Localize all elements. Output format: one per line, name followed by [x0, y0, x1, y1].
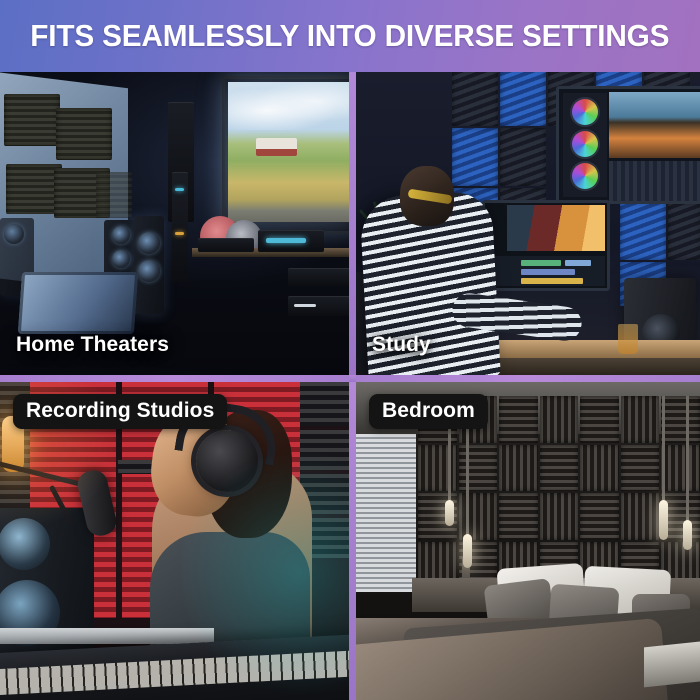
- foam-wedge-icon: [452, 72, 498, 126]
- foam-wedge-icon: [500, 128, 546, 186]
- divider-horizontal-left: [0, 375, 349, 382]
- timeline-clip: [521, 278, 583, 284]
- timeline-secondary: [487, 256, 605, 286]
- wedge-tile: [621, 493, 660, 540]
- timeline-clip: [521, 260, 561, 266]
- pendant-light: [659, 500, 668, 540]
- panel-bedroom[interactable]: Bedroom: [356, 382, 700, 700]
- speaker-cone-icon: [138, 232, 160, 254]
- lounge-chair-back: [18, 272, 138, 334]
- speaker-cone-icon: [112, 250, 130, 268]
- wedge-tile: [499, 396, 538, 443]
- secondary-monitor: [482, 200, 610, 291]
- timeline-strip: [609, 161, 700, 201]
- wedge-tile: [580, 396, 619, 443]
- wedge-tile: [580, 493, 619, 540]
- wedge-tile: [621, 396, 660, 443]
- pendant-cord: [466, 412, 469, 536]
- amplifier: [198, 238, 254, 252]
- divider-vertical-top: [349, 72, 356, 375]
- wedge-tile: [499, 445, 538, 492]
- dark-acoustic-panel: [300, 382, 349, 426]
- projection-screen: [228, 82, 349, 222]
- speaker-cone-icon: [4, 224, 24, 244]
- pendant-cord: [686, 396, 689, 522]
- wedge-tile: [580, 445, 619, 492]
- disc-player-top: [288, 268, 349, 286]
- led-indicator: [175, 188, 184, 191]
- wedge-tile: [661, 445, 700, 492]
- drinking-glass: [618, 324, 638, 354]
- foam-wedge-icon: [668, 202, 700, 260]
- window-blinds: [356, 434, 416, 592]
- product-feature-image: FITS SEAMLESSLY INTO DIVERSE SETTINGS: [0, 0, 700, 700]
- page-title: FITS SEAMLESSLY INTO DIVERSE SETTINGS: [31, 18, 670, 54]
- video-preview: [609, 92, 700, 158]
- color-grading-panel: [563, 93, 607, 197]
- color-wheel-lift-icon: [572, 99, 598, 125]
- wedge-tile: [540, 445, 579, 492]
- foam-panel-icon: [56, 108, 112, 160]
- scene-grid: Home Theaters: [0, 72, 700, 700]
- pendant-cord: [662, 396, 665, 502]
- color-wheel-gamma-icon: [572, 131, 598, 157]
- wedge-tile: [459, 445, 498, 492]
- wedge-tile: [499, 493, 538, 540]
- timeline-clip: [521, 269, 575, 275]
- panel-caption-bedroom: Bedroom: [369, 394, 488, 429]
- tweeter-icon: [0, 518, 50, 570]
- panel-caption-recording-studios: Recording Studios: [13, 394, 227, 429]
- foam-wedge-icon: [452, 128, 498, 186]
- panel-home-theaters[interactable]: Home Theaters: [0, 72, 349, 375]
- divider-center-cross: [349, 375, 356, 382]
- wedge-tile: [661, 396, 700, 443]
- speaker-cone-icon: [112, 226, 130, 244]
- video-preview-secondary: [507, 205, 605, 251]
- timeline-clip: [565, 260, 591, 266]
- panel-recording-studios[interactable]: Recording Studios: [0, 382, 349, 700]
- headphone-earcup-icon: [196, 430, 258, 492]
- nightstand: [644, 641, 700, 688]
- panel-caption-study: Study: [372, 333, 431, 357]
- pendant-light: [463, 534, 472, 568]
- wedge-tile: [540, 396, 579, 443]
- wedge-tile: [540, 493, 579, 540]
- header-banner: FITS SEAMLESSLY INTO DIVERSE SETTINGS: [0, 0, 700, 72]
- foam-panel-icon: [4, 94, 60, 146]
- foam-panel-icon: [96, 172, 132, 218]
- pendant-light: [445, 500, 454, 526]
- wedge-tile: [459, 493, 498, 540]
- receiver-display: [266, 238, 306, 243]
- pendant-light: [683, 520, 692, 550]
- dark-acoustic-panel: [300, 430, 349, 470]
- divider-horizontal-right: [356, 375, 700, 382]
- panel-study[interactable]: Study: [356, 72, 700, 375]
- led-indicator: [175, 232, 184, 235]
- foam-wedge-icon: [500, 72, 546, 126]
- divider-vertical-bottom: [349, 382, 356, 700]
- wedge-tile: [621, 445, 660, 492]
- panel-caption-home-theaters: Home Theaters: [16, 333, 169, 357]
- foam-wedge-icon: [620, 202, 666, 260]
- player-display: [294, 304, 316, 307]
- studio-desk: [0, 628, 214, 644]
- color-wheel-gain-icon: [572, 163, 598, 189]
- primary-monitor: [556, 86, 700, 204]
- keyboard-keys: [0, 650, 349, 695]
